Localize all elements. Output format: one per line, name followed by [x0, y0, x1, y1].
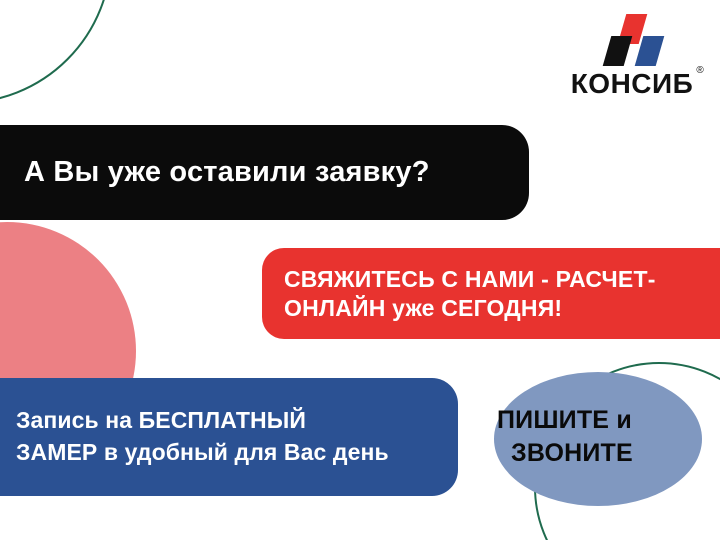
- brand-logo: КОНСИБ®: [556, 14, 708, 98]
- promo-banner-canvas: КОНСИБ® А Вы уже оставили заявку? СВЯЖИТ…: [0, 0, 720, 540]
- question-banner: А Вы уже оставили заявку?: [0, 125, 529, 220]
- contact-banner-text: СВЯЖИТЕСЬ С НАМИ - РАСЧЕТ- ОНЛАЙН уже СЕ…: [284, 265, 656, 321]
- contact-callout-line-2: ЗВОНИТЕ: [497, 437, 720, 470]
- avito-watermark-label: Avito: [653, 509, 712, 534]
- brand-wordmark: КОНСИБ®: [571, 70, 694, 98]
- avito-dots-icon: [629, 512, 649, 532]
- logo-mark-icon: [597, 14, 667, 66]
- contact-banner: СВЯЖИТЕСЬ С НАМИ - РАСЧЕТ- ОНЛАЙН уже СЕ…: [262, 248, 720, 339]
- question-banner-text: А Вы уже оставили заявку?: [24, 157, 430, 189]
- booking-banner-line-1: Запись на БЕСПЛАТНЫЙ: [16, 405, 389, 437]
- contact-callout-line-1: ПИШИТЕ и: [497, 404, 720, 437]
- booking-banner: Запись на БЕСПЛАТНЫЙ ЗАМЕР в удобный для…: [0, 378, 458, 496]
- avito-watermark: Avito: [629, 509, 712, 534]
- contact-banner-line-1: СВЯЖИТЕСЬ С НАМИ - РАСЧЕТ-: [284, 265, 656, 293]
- logo-diamond-black-icon: [603, 36, 633, 66]
- booking-banner-line-2: ЗАМЕР в удобный для Вас день: [16, 437, 389, 469]
- decorative-green-circle-top-left: [0, 0, 112, 104]
- registered-trademark-icon: ®: [696, 66, 704, 76]
- contact-banner-line-2: ОНЛАЙН уже СЕГОДНЯ!: [284, 294, 656, 322]
- brand-name-text: КОНСИБ: [571, 68, 694, 99]
- contact-callout: ПИШИТЕ и ЗВОНИТЕ: [497, 404, 720, 470]
- booking-banner-text: Запись на БЕСПЛАТНЫЙ ЗАМЕР в удобный для…: [16, 405, 389, 468]
